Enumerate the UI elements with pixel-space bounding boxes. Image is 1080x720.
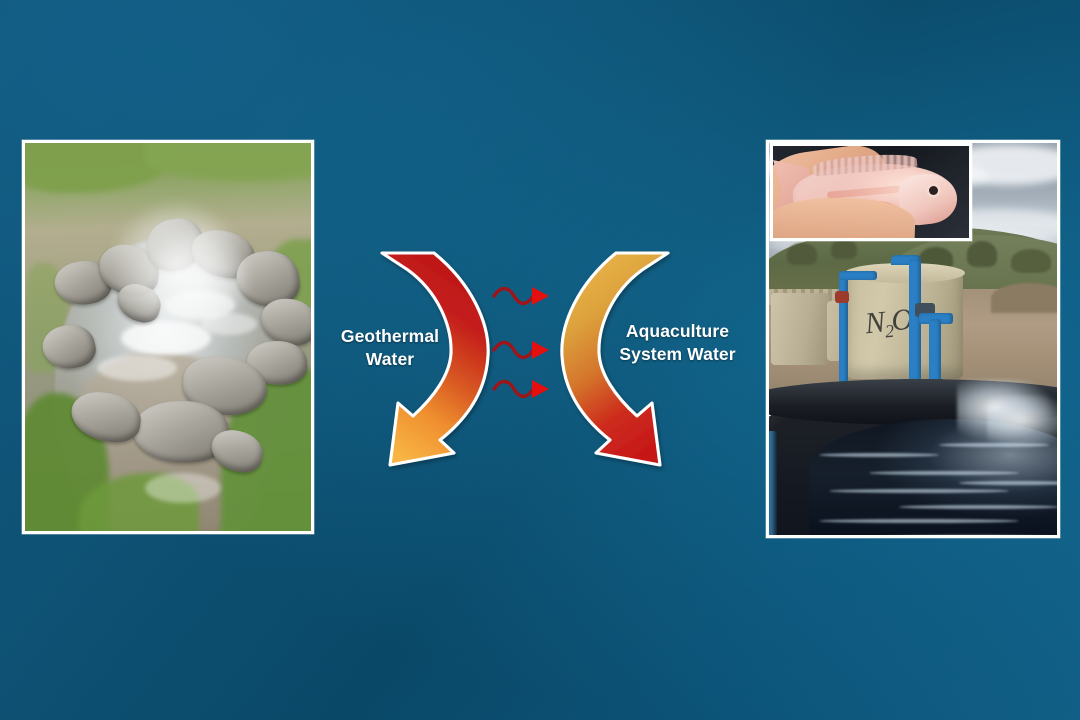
- dirt-mound: [991, 283, 1057, 313]
- water-ripple: [899, 505, 1057, 509]
- shrub: [1011, 249, 1051, 273]
- heat-wave-arrow-2: [494, 341, 549, 359]
- pvc-pipe: [839, 271, 848, 383]
- aquaculture-system-water-label: Aquaculture System Water: [595, 320, 760, 367]
- pvc-pipe: [839, 271, 877, 280]
- heat-wave-arrow-1: [494, 287, 549, 305]
- shrub: [831, 239, 857, 259]
- heat-wave-arrow-3: [494, 380, 549, 398]
- water-ripple: [829, 489, 1009, 493]
- tank-side-panel: [769, 431, 777, 535]
- shrub: [787, 243, 817, 265]
- grass-patch: [145, 143, 311, 181]
- barrel-marking: N₂O: [863, 303, 912, 342]
- red-tilapia-image: [773, 146, 969, 238]
- water-ripple: [819, 519, 1019, 523]
- water-glint: [145, 473, 221, 503]
- water-glint: [97, 355, 177, 381]
- water-ripple: [959, 481, 1057, 485]
- geothermal-spring-photo: [22, 140, 314, 534]
- water-ripple: [869, 471, 1019, 475]
- figure-canvas: N₂O: [0, 0, 1080, 720]
- red-tilapia-photo: [770, 143, 972, 241]
- steam-plume: [153, 223, 249, 327]
- shrub: [967, 241, 997, 267]
- water-splash: [987, 395, 1057, 449]
- water-ripple: [819, 453, 939, 457]
- heat-transfer-arrows: [494, 287, 549, 398]
- pipe-valve: [835, 291, 849, 303]
- fish-scene: [773, 146, 969, 238]
- spring-scene: [25, 143, 311, 531]
- fish-eye: [929, 186, 938, 195]
- geothermal-spring-image: [25, 143, 311, 531]
- background-tank: [771, 293, 829, 365]
- geothermal-water-label: Geothermal Water: [320, 325, 460, 372]
